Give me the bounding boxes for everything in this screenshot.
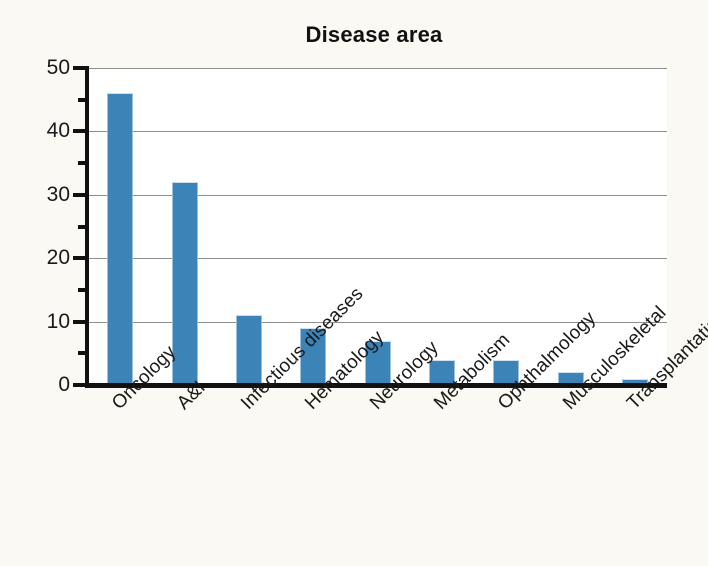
y-tick-label-50: 50 [6, 56, 70, 80]
y-tick-major-30 [73, 193, 89, 197]
bar[interactable] [236, 315, 262, 385]
y-tick-minor-5 [78, 351, 89, 355]
y-tick-major-50 [73, 66, 89, 70]
y-tick-minor-15 [78, 288, 89, 292]
bar-chart-figure: Disease area 01020304050 OncologyA&IInfe… [0, 0, 708, 566]
y-tick-minor-35 [78, 161, 89, 165]
y-axis-tick-labels-group: 01020304050 [0, 0, 70, 566]
y-tick-major-20 [73, 256, 89, 260]
y-tick-major-10 [73, 320, 89, 324]
y-tick-label-40: 40 [6, 119, 70, 143]
y-tick-label-20: 20 [6, 246, 70, 270]
bar[interactable] [107, 93, 133, 385]
gridline-40 [88, 131, 667, 132]
chart-title: Disease area [0, 22, 708, 48]
y-tick-label-30: 30 [6, 183, 70, 207]
gridline-50 [88, 68, 667, 69]
y-tick-major-0 [73, 383, 89, 387]
y-tick-minor-25 [78, 225, 89, 229]
y-tick-minor-45 [78, 98, 89, 102]
y-tick-label-0: 0 [6, 373, 70, 397]
y-tick-major-40 [73, 129, 89, 133]
y-tick-label-10: 10 [6, 310, 70, 334]
